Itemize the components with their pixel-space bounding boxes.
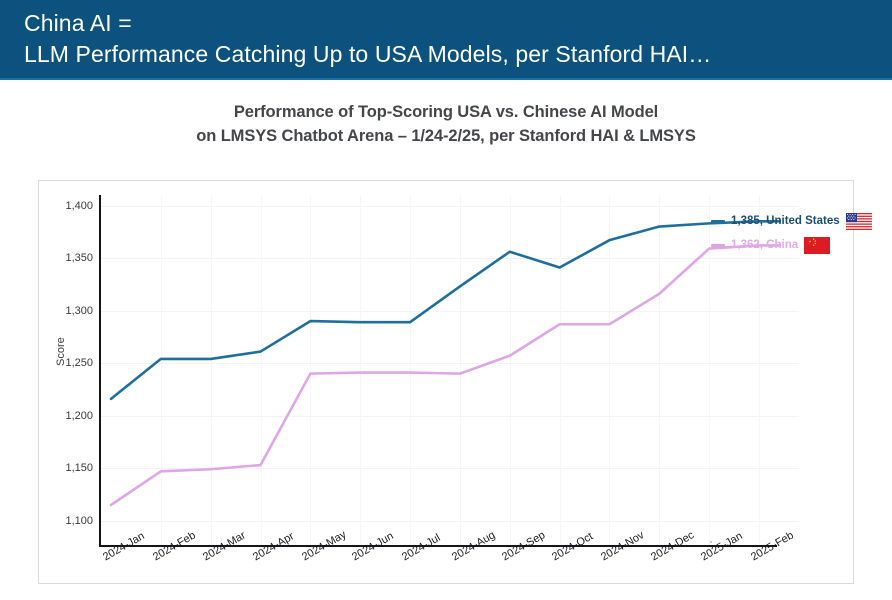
series-lines bbox=[99, 195, 799, 547]
chart-legend: 1,385, United States bbox=[711, 195, 892, 547]
chart-title-line-1: Performance of Top-Scoring USA vs. Chine… bbox=[0, 100, 892, 124]
legend-line-swatch-cn bbox=[711, 244, 725, 247]
legend-label-china: 1,362, China bbox=[731, 239, 798, 251]
legend-item-united-states[interactable]: 1,385, United States bbox=[711, 210, 872, 232]
header-title-line-2: LLM Performance Catching Up to USA Model… bbox=[24, 39, 892, 70]
y-axis-tick-label: 1,150 bbox=[33, 462, 93, 474]
y-axis-tick-label: 1,300 bbox=[33, 305, 93, 317]
series-line-china bbox=[111, 245, 759, 505]
y-axis-tick-label: 1,400 bbox=[33, 200, 93, 212]
y-axis-tick-label: 1,200 bbox=[33, 410, 93, 422]
chart-title: Performance of Top-Scoring USA vs. Chine… bbox=[0, 100, 892, 148]
legend-label-united-states: 1,385, United States bbox=[731, 215, 840, 227]
chart-panel: Score 1,1001,1501,2001,2501,3001,3501,40… bbox=[38, 180, 854, 584]
usa-flag-icon bbox=[846, 213, 872, 230]
legend-line-swatch-us bbox=[711, 220, 725, 223]
header-title-line-1: China AI = bbox=[24, 8, 892, 39]
y-axis-tick-label: 1,100 bbox=[33, 515, 93, 527]
china-flag-icon bbox=[804, 237, 830, 254]
legend-item-china[interactable]: 1,362, China bbox=[711, 234, 830, 256]
y-axis-tick-label: 1,350 bbox=[33, 252, 93, 264]
chart-title-line-2: on LMSYS Chatbot Arena – 1/24-2/25, per … bbox=[0, 124, 892, 148]
slide-header-banner: China AI = LLM Performance Catching Up t… bbox=[0, 0, 892, 80]
plot-area: 1,1001,1501,2001,2501,3001,3501,400 2024… bbox=[99, 195, 799, 547]
y-axis-tick-label: 1,250 bbox=[33, 357, 93, 369]
